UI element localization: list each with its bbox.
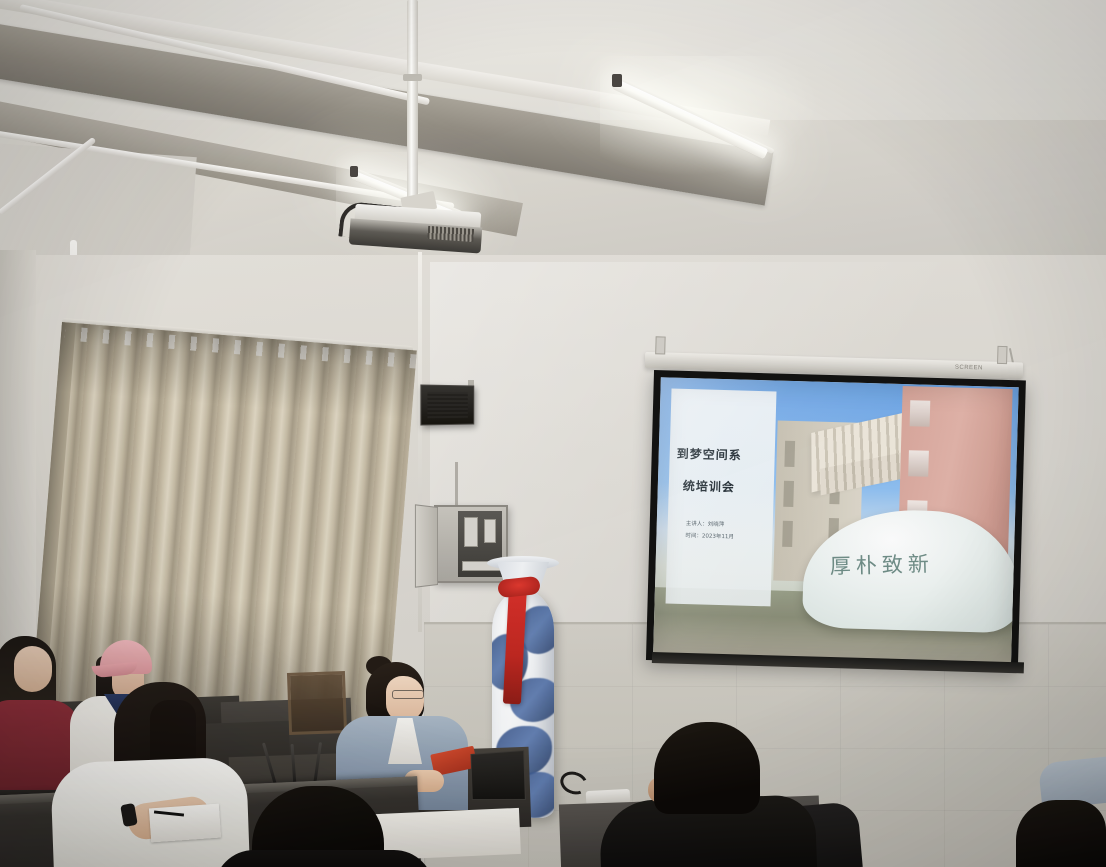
screen-bracket-right — [997, 346, 1007, 364]
screen-bracket-left — [655, 336, 665, 354]
slide-subtitle-date: 时间：2023年11月 — [685, 531, 734, 540]
slide-title-line-1: 到梦空间系 — [676, 445, 741, 464]
electrical-cabinet-door[interactable] — [415, 504, 438, 588]
slide-window-r2 — [908, 450, 929, 477]
classroom-scene: SCREEN 厚朴致新 — [0, 0, 1106, 867]
slide-window-l2 — [783, 481, 794, 507]
slide-window-l1 — [784, 441, 795, 467]
person-woman-maroon-face — [14, 646, 52, 692]
slide-stone-inscription: 厚朴致新 — [829, 546, 1000, 580]
open-notebook — [149, 804, 221, 843]
slide-title-line-2: 统培训会 — [683, 477, 735, 495]
person-dark-suit-hair — [654, 722, 760, 814]
screen-case-logo: SCREEN — [955, 365, 983, 372]
projector-mount-pole — [407, 0, 418, 218]
laptop[interactable] — [470, 750, 525, 800]
slide-text-panel: 到梦空间系 统培训会 主讲人：刘晓萍 时间：2023年11月 — [666, 389, 777, 607]
wall-speaker — [420, 384, 474, 425]
breaker-chip-2 — [484, 519, 496, 543]
foreground-attendee-body — [214, 850, 434, 867]
slide-window-l3 — [782, 521, 793, 547]
person-right-edge-hair — [1016, 800, 1106, 867]
projection-screen[interactable]: 厚朴致新 到梦空间系 统培训会 主讲人：刘晓萍 时间：2023年11月 — [646, 370, 1026, 670]
light-cap-left — [350, 166, 358, 177]
light-cap-right — [612, 74, 622, 87]
projection-screen-surface: 厚朴致新 到梦空间系 统培训会 主讲人：刘晓萍 时间：2023年11月 — [653, 377, 1019, 663]
wall-left-corner — [0, 250, 36, 670]
slide-window-r1 — [910, 400, 931, 427]
speaker-grille — [427, 392, 467, 419]
electrical-conduit-wire — [455, 462, 458, 508]
breaker-chip-1 — [464, 517, 478, 547]
slide-subtitle-presenter: 主讲人：刘晓萍 — [686, 519, 725, 528]
presenter-glasses — [392, 690, 424, 699]
wooden-chair — [287, 671, 347, 735]
electrical-cabinet[interactable] — [434, 505, 508, 583]
projector-pole-collar — [403, 74, 422, 81]
